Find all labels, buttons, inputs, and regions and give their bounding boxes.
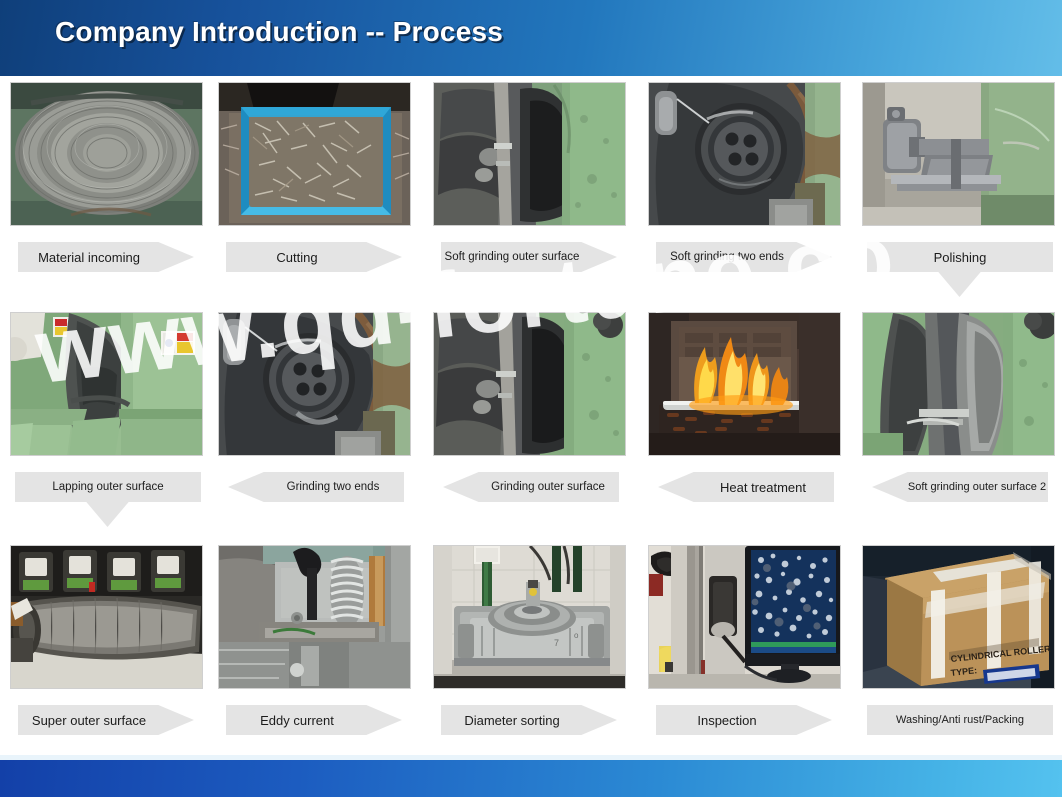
photo-green-grinder-outer-surface-2 bbox=[433, 312, 626, 456]
slide-footer-bar bbox=[0, 760, 1062, 797]
process-step-washing-anti-rust-packing[interactable]: CYLINDRICAL ROLLER TYPE: Washing/Anti ru… bbox=[862, 545, 1057, 739]
grinder-illustration-2 bbox=[434, 313, 626, 456]
arrow-label: Diameter sorting bbox=[441, 705, 617, 735]
arrow-label: Eddy current bbox=[226, 705, 402, 735]
grinding-wheel-illustration-2 bbox=[219, 313, 411, 456]
svg-text:o: o bbox=[574, 631, 579, 640]
cutting-crate-illustration bbox=[219, 83, 411, 226]
slide-header-bar: Company Introduction -- Process bbox=[0, 0, 1062, 76]
process-step-super-outer-surface[interactable]: Super outer surface bbox=[10, 545, 205, 739]
presentation-slide: Company Introduction -- Process bbox=[0, 0, 1062, 797]
process-step-polishing[interactable]: Polishing bbox=[862, 82, 1057, 276]
super-finishing-illustration bbox=[11, 546, 203, 689]
process-step-inspection[interactable]: Inspection bbox=[648, 545, 843, 739]
arrow-inspection: Inspection bbox=[648, 705, 843, 739]
process-step-grinding-outer-surface[interactable]: Grinding outer surface bbox=[433, 312, 628, 506]
arrow-grinding-outer-surface: Grinding outer surface bbox=[433, 472, 628, 506]
arrow-label: Soft grinding outer surface bbox=[441, 242, 617, 272]
photo-green-lapping-machine bbox=[10, 312, 203, 456]
arrow-eddy-current: Eddy current bbox=[218, 705, 413, 739]
photo-packed-carton-box: CYLINDRICAL ROLLER TYPE: bbox=[862, 545, 1055, 689]
arrow-label: Grinding two ends bbox=[228, 472, 404, 502]
svg-text:7: 7 bbox=[554, 638, 559, 648]
arrow-label: Washing/Anti rust/Packing bbox=[867, 705, 1053, 735]
photo-blue-crate-cut-rods bbox=[218, 82, 411, 226]
photo-grinding-wheel-two-ends-2 bbox=[218, 312, 411, 456]
arrow-label: Super outer surface bbox=[18, 705, 194, 735]
photo-polishing-machine-rollers bbox=[862, 82, 1055, 226]
photo-furnace-flames-heat-treatment bbox=[648, 312, 841, 456]
polishing-machine-illustration bbox=[863, 83, 1055, 226]
grinder-illustration-3 bbox=[863, 313, 1055, 456]
process-row-2: Lapping outer surface bbox=[0, 312, 1062, 545]
down-arrow-icon bbox=[938, 271, 982, 297]
arrow-label: Lapping outer surface bbox=[15, 472, 201, 502]
photo-microscope-inspection-monitor bbox=[648, 545, 841, 689]
process-row-1: Material incoming bbox=[0, 82, 1062, 312]
process-step-soft-grinding-outer-surface-2[interactable]: Soft grinding outer surface 2 bbox=[862, 312, 1057, 506]
heat-treatment-illustration bbox=[649, 313, 841, 456]
coiled-wire-illustration bbox=[11, 83, 203, 226]
page-title: Company Introduction -- Process bbox=[55, 16, 503, 48]
arrow-super-outer-surface: Super outer surface bbox=[10, 705, 205, 739]
process-step-material-incoming[interactable]: Material incoming bbox=[10, 82, 205, 276]
arrow-soft-grinding-outer-surface-2: Soft grinding outer surface 2 bbox=[862, 472, 1057, 506]
process-step-lapping-outer-surface[interactable]: Lapping outer surface bbox=[10, 312, 205, 506]
process-step-diameter-sorting[interactable]: 7 o Diameter sorting bbox=[433, 545, 628, 739]
arrow-label: Cutting bbox=[226, 242, 402, 272]
arrow-label: Polishing bbox=[867, 242, 1053, 272]
arrow-soft-grinding-outer-surface: Soft grinding outer surface bbox=[433, 242, 628, 276]
arrow-label: Soft grinding outer surface 2 bbox=[872, 472, 1048, 502]
arrow-cutting: Cutting bbox=[218, 242, 413, 276]
arrow-label: Heat treatment bbox=[658, 472, 834, 502]
photo-eddy-current-tester bbox=[218, 545, 411, 689]
carton-box-illustration: CYLINDRICAL ROLLER TYPE: bbox=[863, 546, 1055, 689]
photo-grinding-wheel-two-ends bbox=[648, 82, 841, 226]
process-step-cutting[interactable]: Cutting bbox=[218, 82, 413, 276]
arrow-washing-anti-rust-packing: Washing/Anti rust/Packing bbox=[862, 705, 1057, 739]
arrow-soft-grinding-two-ends: Soft grinding two ends bbox=[648, 242, 843, 276]
down-arrow-icon bbox=[86, 501, 130, 527]
arrow-polishing: Polishing bbox=[862, 242, 1057, 276]
arrow-material-incoming: Material incoming bbox=[10, 242, 205, 276]
inspection-illustration bbox=[649, 546, 841, 689]
process-step-soft-grinding-outer-surface[interactable]: Soft grinding outer surface bbox=[433, 82, 628, 276]
grinding-wheel-illustration bbox=[649, 83, 841, 226]
process-step-eddy-current[interactable]: Eddy current bbox=[218, 545, 413, 739]
process-step-heat-treatment[interactable]: Heat treatment bbox=[648, 312, 843, 506]
eddy-current-illustration bbox=[219, 546, 411, 689]
diameter-sorting-illustration: 7 o bbox=[434, 546, 626, 689]
arrow-diameter-sorting: Diameter sorting bbox=[433, 705, 628, 739]
process-step-grinding-two-ends[interactable]: Grinding two ends bbox=[218, 312, 413, 506]
arrow-lapping-outer-surface: Lapping outer surface bbox=[10, 472, 205, 506]
process-row-3: Super outer surface bbox=[0, 545, 1062, 760]
arrow-label: Soft grinding two ends bbox=[656, 242, 832, 272]
process-step-soft-grinding-two-ends[interactable]: Soft grinding two ends bbox=[648, 82, 843, 276]
arrow-label: Grinding outer surface bbox=[443, 472, 619, 502]
arrow-heat-treatment: Heat treatment bbox=[648, 472, 843, 506]
grinder-illustration bbox=[434, 83, 626, 226]
photo-diameter-sorting-machine: 7 o bbox=[433, 545, 626, 689]
arrow-label: Material incoming bbox=[18, 242, 194, 272]
lapping-machine-illustration bbox=[11, 313, 203, 456]
photo-green-grinder-outer-surface-3 bbox=[862, 312, 1055, 456]
photo-green-grinder-outer-surface bbox=[433, 82, 626, 226]
arrow-grinding-two-ends: Grinding two ends bbox=[218, 472, 413, 506]
photo-coiled-steel-wire bbox=[10, 82, 203, 226]
arrow-label: Inspection bbox=[656, 705, 832, 735]
photo-super-finishing-machine bbox=[10, 545, 203, 689]
